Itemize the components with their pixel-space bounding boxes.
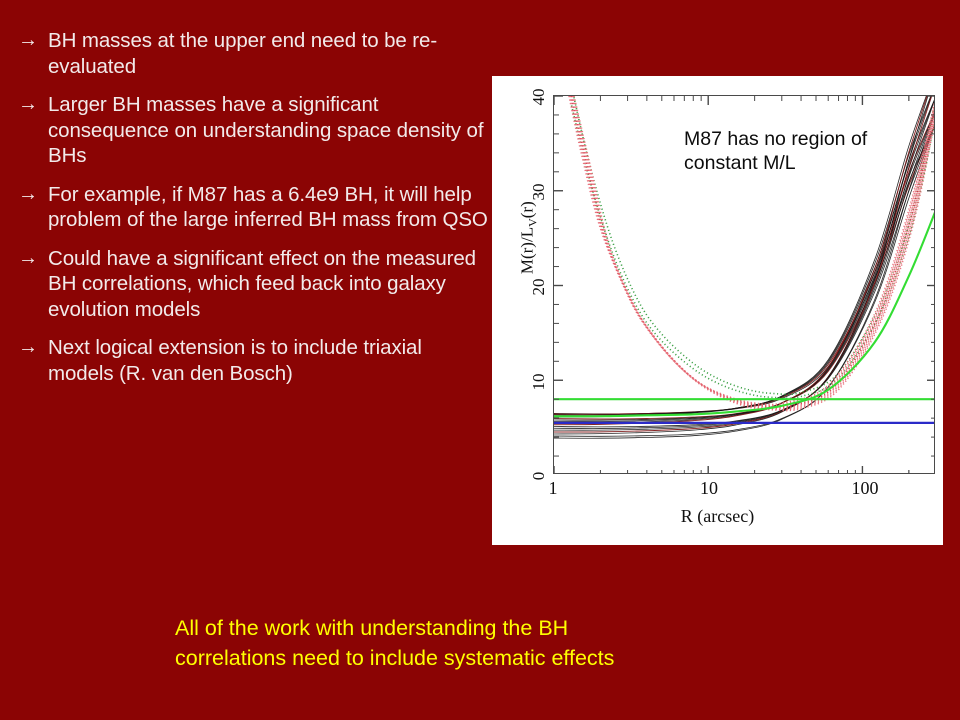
slide-caption: All of the work with understanding the B… (175, 613, 865, 673)
y-tick-label: 20 (529, 270, 549, 304)
arrow-icon: → (18, 335, 48, 386)
arrow-icon: → (18, 182, 48, 233)
bullet-text: Next logical extension is to include tri… (48, 335, 488, 386)
bullet-text: Larger BH masses have a significant cons… (48, 92, 488, 169)
x-axis-label: R (arcsec) (492, 506, 943, 527)
list-item: → Next logical extension is to include t… (18, 335, 488, 386)
bullet-list: → BH masses at the upper end need to be … (18, 28, 488, 399)
bullet-text: BH masses at the upper end need to be re… (48, 28, 488, 79)
arrow-icon: → (18, 28, 48, 79)
bullet-text: For example, if M87 has a 6.4e9 BH, it w… (48, 182, 488, 233)
caption-line: All of the work with understanding the B… (175, 613, 865, 643)
bullet-text: Could have a significant effect on the m… (48, 246, 488, 323)
y-tick-label: 40 (529, 80, 549, 114)
curve-canvas (554, 96, 935, 474)
arrow-icon: → (18, 92, 48, 169)
list-item: → Larger BH masses have a significant co… (18, 92, 488, 169)
arrow-icon: → (18, 246, 48, 323)
x-tick-label: 100 (840, 478, 890, 499)
list-item: → For example, if M87 has a 6.4e9 BH, it… (18, 182, 488, 233)
y-tick-label: 10 (529, 365, 549, 399)
figure-panel: M(r)/LV(r) 40 30 20 10 0 1 10 100 R (arc… (492, 76, 943, 545)
caption-line: correlations need to include systematic … (175, 643, 865, 673)
x-tick-label: 10 (684, 478, 734, 499)
slide-canvas: → BH masses at the upper end need to be … (0, 0, 960, 720)
plot-area: M87 has no region of constant M/L (553, 95, 935, 474)
list-item: → Could have a significant effect on the… (18, 246, 488, 323)
x-tick-label: 1 (528, 478, 578, 499)
y-tick-label: 30 (529, 175, 549, 209)
list-item: → BH masses at the upper end need to be … (18, 28, 488, 79)
